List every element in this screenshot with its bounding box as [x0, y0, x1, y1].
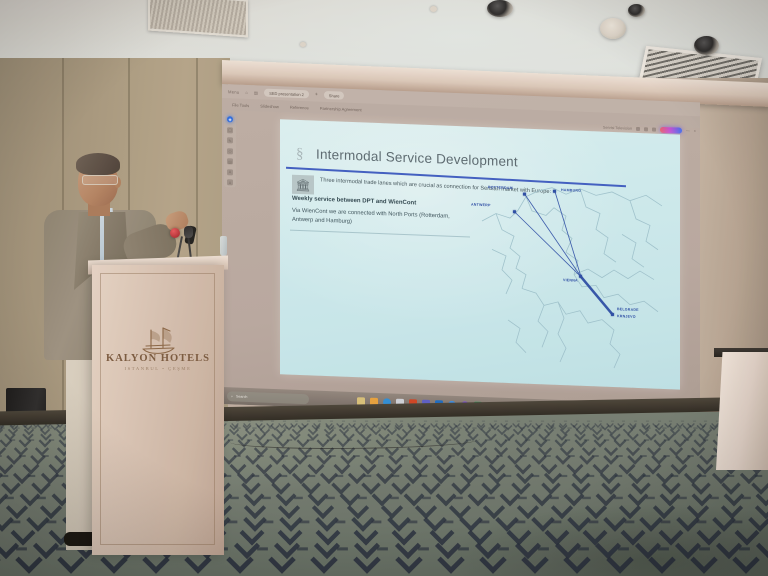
carpet-motif	[0, 475, 7, 478]
carpet-motif	[678, 427, 682, 428]
carpet-motif	[614, 496, 623, 499]
carpet-motif	[299, 427, 303, 428]
podium: KALYON HOTELS ISTANBUL • ÇEŞME	[92, 265, 224, 555]
projection-screen: Menu ⌂ ▤ SED presentation 2 + Share File…	[222, 84, 700, 422]
carpet-motif	[646, 496, 655, 499]
carpet-motif	[337, 547, 348, 551]
carpet-motif	[408, 521, 418, 524]
carpet-motif	[331, 427, 335, 428]
venue-name: KALYON HOTELS	[92, 353, 224, 364]
carpet-motif	[32, 427, 36, 428]
map-label-hamburg: HAMBURG	[561, 188, 581, 193]
carpet-motif	[268, 427, 272, 428]
ribbon-item-1[interactable]: Slideshow	[260, 103, 279, 109]
new-tab-icon[interactable]: +	[315, 92, 318, 98]
carpet-motif	[531, 475, 538, 478]
recessed-downlight	[694, 36, 719, 55]
minimize-button[interactable]: —	[686, 129, 690, 133]
carpet-motif	[559, 475, 566, 478]
carpet-motif	[28, 475, 35, 478]
eyeglasses	[82, 175, 118, 185]
carpet-motif	[426, 427, 430, 428]
carpet-motif	[583, 427, 587, 428]
carpet-motif	[252, 427, 256, 428]
map-label-belgrade: BELGRADE	[617, 307, 639, 312]
search-input[interactable]: ⌕ Search	[227, 391, 309, 404]
pointer-tool-icon[interactable]: ✥	[227, 116, 233, 122]
carpet-motif	[694, 427, 698, 428]
carpet-motif	[457, 427, 461, 428]
map-label-antwerp: ANTWERP	[471, 203, 491, 208]
carpet-motif	[587, 475, 594, 478]
carpet-motif	[257, 547, 268, 551]
speaker-hair	[76, 153, 120, 175]
projected-app-window: Menu ⌂ ▤ SED presentation 2 + Share File…	[222, 84, 700, 422]
carpet-motif	[378, 547, 389, 551]
map-node-rotterdam	[523, 193, 526, 196]
carpet-motif	[297, 547, 308, 551]
carpet-motif	[615, 475, 622, 478]
water-bottle	[220, 236, 227, 256]
save-icon[interactable]: ▤	[254, 90, 258, 95]
map-label-krnjevo: KRNJEVO	[617, 314, 636, 319]
draped-table	[716, 352, 768, 470]
venue-subtitle: ISTANBUL • ÇEŞME	[92, 366, 224, 371]
carpet-motif	[678, 496, 687, 499]
map-node-hamburg	[553, 190, 556, 193]
recessed-downlight	[487, 0, 513, 17]
pen-icon[interactable]	[652, 128, 656, 132]
carpet-motif	[710, 496, 719, 499]
sprinkler-head	[430, 6, 437, 12]
select-tool-icon[interactable]: ▢	[227, 127, 233, 133]
carpet-motif	[224, 475, 231, 478]
carpet-motif	[552, 427, 556, 428]
carpet-motif	[294, 496, 303, 499]
carpet-motif	[372, 521, 382, 524]
map-node-vienna	[579, 275, 582, 278]
map-node-belgrade	[611, 313, 614, 316]
carpet-motif	[503, 475, 510, 478]
comment-icon[interactable]	[644, 127, 648, 131]
tab-presentation[interactable]: SED presentation 2	[264, 89, 309, 99]
search-icon: ⌕	[231, 394, 233, 398]
podium-border	[100, 273, 215, 545]
map-node-antwerp	[513, 210, 516, 213]
carpet-motif	[16, 427, 20, 428]
ribbon-item-2[interactable]: Reference	[290, 104, 309, 110]
carpet-motif	[498, 547, 509, 551]
carpet-motif	[284, 427, 288, 428]
carpet-motif	[536, 427, 540, 428]
microphone	[170, 228, 180, 238]
carpet-motif	[227, 521, 237, 524]
carpet-motif	[418, 547, 429, 551]
carpet-motif	[6, 496, 15, 499]
carpet-motif	[263, 521, 273, 524]
copilot-icon[interactable]	[660, 127, 682, 134]
close-button[interactable]: ×	[694, 129, 696, 133]
carpet-motif	[599, 427, 603, 428]
carpet-motif	[643, 475, 650, 478]
carpet-motif	[441, 427, 445, 428]
shape-tool-icon[interactable]: ◇	[227, 148, 233, 154]
carpet-motif	[236, 427, 240, 428]
carpet-motif	[520, 427, 524, 428]
ribbon-item-0[interactable]: File Tools	[232, 102, 249, 108]
share-button[interactable]: Share	[324, 91, 345, 100]
carpet-motif	[458, 547, 469, 551]
microphone	[184, 226, 193, 238]
zoom-tool-icon[interactable]: A	[227, 179, 233, 185]
carpet-motif	[662, 427, 666, 428]
carpet-motif	[315, 427, 319, 428]
carpet-motif	[378, 427, 382, 428]
map-label-vienna: VIENNA	[563, 278, 578, 283]
carpet-motif	[0, 427, 4, 428]
sprinkler-head	[300, 42, 306, 47]
carpet-motif	[742, 496, 751, 499]
carpet-motif	[473, 427, 477, 428]
carpet-motif	[326, 496, 335, 499]
slide-canvas[interactable]: § Intermodal Service Development 🏛 Three…	[280, 119, 680, 389]
carpet-motif	[420, 475, 427, 478]
carpet-motif	[567, 427, 571, 428]
vertical-toolbar: ✥ ▢ ✎ ◇ ▤ A A	[224, 114, 236, 187]
carpet-motif	[300, 521, 310, 524]
recessed-downlight	[628, 4, 645, 17]
company-logo-icon: §	[296, 146, 304, 163]
presenter-mode-label[interactable]: Servisi Television	[603, 126, 632, 131]
carpet-motif	[582, 496, 591, 499]
highlight-tool-icon[interactable]: ▤	[227, 158, 233, 164]
carpet-motif	[230, 496, 239, 499]
grid-icon[interactable]	[636, 127, 640, 131]
search-placeholder: Search	[236, 394, 247, 398]
ceiling-speaker	[600, 18, 626, 39]
carpet-motif	[336, 521, 346, 524]
text-tool-icon[interactable]: A	[227, 169, 233, 175]
europe-trade-lanes-map: ROTTERDAM HAMBURG ANTWERP VIENNA BELGRAD…	[462, 168, 677, 381]
conference-room-scene: Menu ⌂ ▤ SED presentation 2 + Share File…	[0, 0, 768, 576]
ribbon-item-3[interactable]: Partnership Agreement	[320, 105, 362, 112]
carpet-motif	[394, 427, 398, 428]
carpet-motif	[709, 427, 713, 428]
carpet-motif	[262, 496, 271, 499]
carpet-motif	[475, 475, 482, 478]
home-icon[interactable]: ⌂	[245, 89, 248, 94]
menu-button[interactable]: Menu	[228, 89, 239, 94]
carpet-motif	[732, 521, 742, 524]
carpet-motif	[410, 427, 414, 428]
carpet-motif	[550, 496, 559, 499]
building-icon: 🏛	[292, 175, 314, 195]
pen-tool-icon[interactable]: ✎	[227, 137, 233, 143]
carpet-motif	[447, 475, 454, 478]
